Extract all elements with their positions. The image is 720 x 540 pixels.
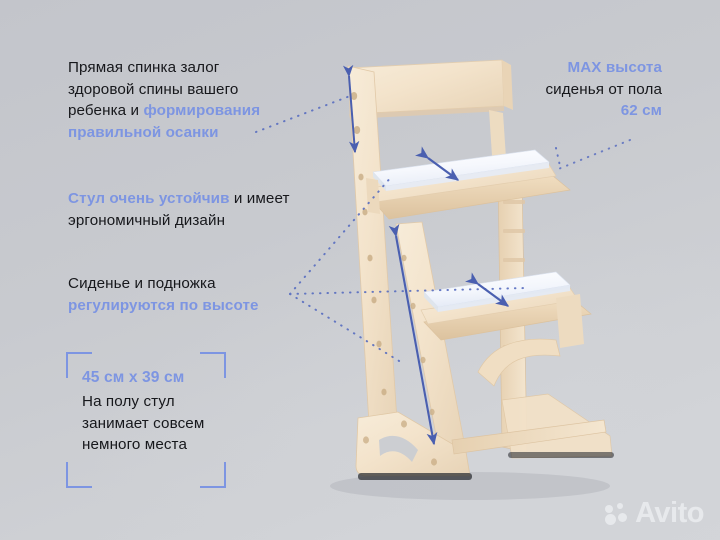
maxh-line-2: сиденья от пола (452, 79, 662, 101)
adjust-line-2: регулируются по высоте (68, 295, 350, 317)
posture-line-2: здоровой спины вашего (68, 79, 350, 101)
seat-left-bracket (366, 178, 380, 214)
maxh-line-1: MAX высота (452, 57, 662, 79)
avito-watermark: Avito (605, 499, 704, 528)
floor-line-1: На полу стул (82, 391, 272, 413)
front-leg (396, 222, 466, 456)
maxh-line-3: 62 см (452, 100, 662, 122)
foot-pad-left (358, 473, 472, 480)
back-post-left (348, 66, 398, 441)
posture-line-3-black: ребенка и (68, 102, 143, 119)
floor-dimensions: 45 см х 39 см (82, 367, 272, 389)
stable-line-1-black: и имеет (230, 190, 290, 207)
base-runner-cutout (379, 436, 418, 462)
base-cross-bar (452, 420, 606, 454)
footrest-white-top (424, 272, 570, 307)
frame-corner-bottom-left (66, 462, 92, 488)
callout-floor-footprint: 45 см х 39 см На полу стул занимает совс… (82, 367, 272, 456)
floor-line-3: немного места (82, 434, 272, 456)
screw-holes-left (351, 92, 387, 395)
seat-white-top (373, 150, 549, 186)
stable-line-1-blue: Стул очень устойчив (68, 190, 230, 207)
posture-line-1: Прямая спинка залог (68, 57, 350, 79)
footrest-white-edge (438, 285, 570, 312)
avito-wordmark: Avito (635, 499, 704, 528)
callout-posture: Прямая спинка залог здоровой спины вашег… (68, 57, 350, 143)
arrow-seat-depth (428, 158, 458, 180)
stable-line-2: эргономичный дизайн (68, 210, 350, 232)
back-post-right (498, 176, 527, 452)
seat-wood-top (370, 163, 556, 202)
base-runner-left (356, 412, 470, 476)
footrest-base-front (424, 300, 591, 340)
avito-dots-icon (605, 503, 629, 525)
arrow-footrest-depth (478, 284, 508, 306)
base-runner-right (502, 394, 612, 458)
adjust-line-1: Сиденье и подножка (68, 273, 350, 295)
callout-adjustable: Сиденье и подножка регулируются по высот… (68, 273, 350, 316)
footrest-right-bracket (556, 294, 584, 348)
seat-base-front (372, 176, 570, 219)
foot-pad-right (508, 452, 614, 458)
arrow-seat-height-62 (396, 236, 434, 444)
frame-corner-bottom-right (200, 462, 226, 488)
callout-stability: Стул очень устойчив и имеет эргономичный… (68, 188, 350, 231)
callout-max-height: MAX высота сиденья от пола 62 см (452, 57, 662, 122)
measure-arrows (349, 76, 508, 444)
posture-line-4: правильной осанки (68, 122, 350, 144)
curved-brace-right (478, 339, 560, 386)
seat-white-edge (386, 162, 549, 191)
leader-maxheight (556, 148, 560, 166)
footrest-wood-top (421, 288, 578, 324)
screw-holes-front-leg (401, 255, 434, 415)
floor-line-2: занимает совсем (82, 413, 272, 435)
leader-maxheight-tail (556, 140, 630, 170)
infographic-canvas: Прямая спинка залог здоровой спины вашег… (0, 0, 720, 540)
posture-line-3-blue: формирования (143, 102, 260, 119)
